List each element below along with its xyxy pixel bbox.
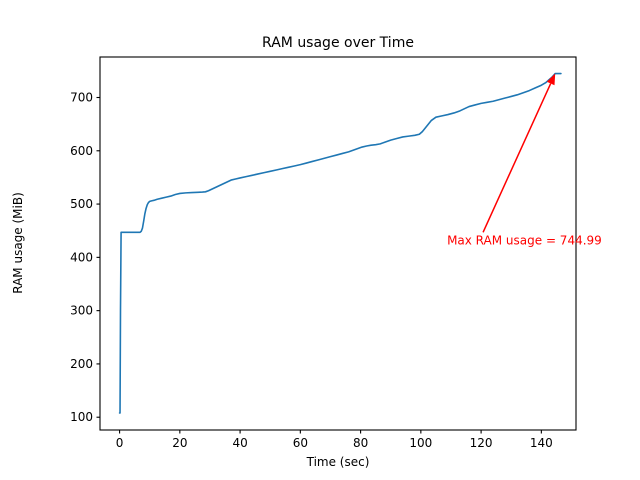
x-tick-label: 60: [293, 436, 308, 450]
y-tick-label: 600: [70, 144, 93, 158]
y-tick-label: 300: [70, 304, 93, 318]
chart-canvas: RAM usage over Time 020406080100120140 1…: [0, 0, 640, 480]
y-tick-label: 200: [70, 357, 93, 371]
y-tick-label: 500: [70, 197, 93, 211]
x-tick-label: 80: [353, 436, 368, 450]
y-tick-label: 400: [70, 250, 93, 264]
y-axis-label: RAM usage (MiB): [11, 192, 25, 294]
x-tick-label: 120: [470, 436, 493, 450]
y-tick-label: 100: [70, 410, 93, 424]
chart-title: RAM usage over Time: [262, 35, 414, 51]
x-tick-label: 40: [232, 436, 247, 450]
x-tick-label: 140: [530, 436, 553, 450]
max-ram-annotation-label: Max RAM usage = 744.99: [447, 233, 602, 247]
x-tick-label: 100: [409, 436, 432, 450]
x-tick-label: 0: [116, 436, 124, 450]
matplotlib-figure: RAM usage over Time 020406080100120140 1…: [0, 0, 640, 480]
x-axis-label: Time (sec): [306, 455, 370, 469]
y-tick-label: 700: [70, 90, 93, 104]
x-tick-label: 20: [172, 436, 187, 450]
